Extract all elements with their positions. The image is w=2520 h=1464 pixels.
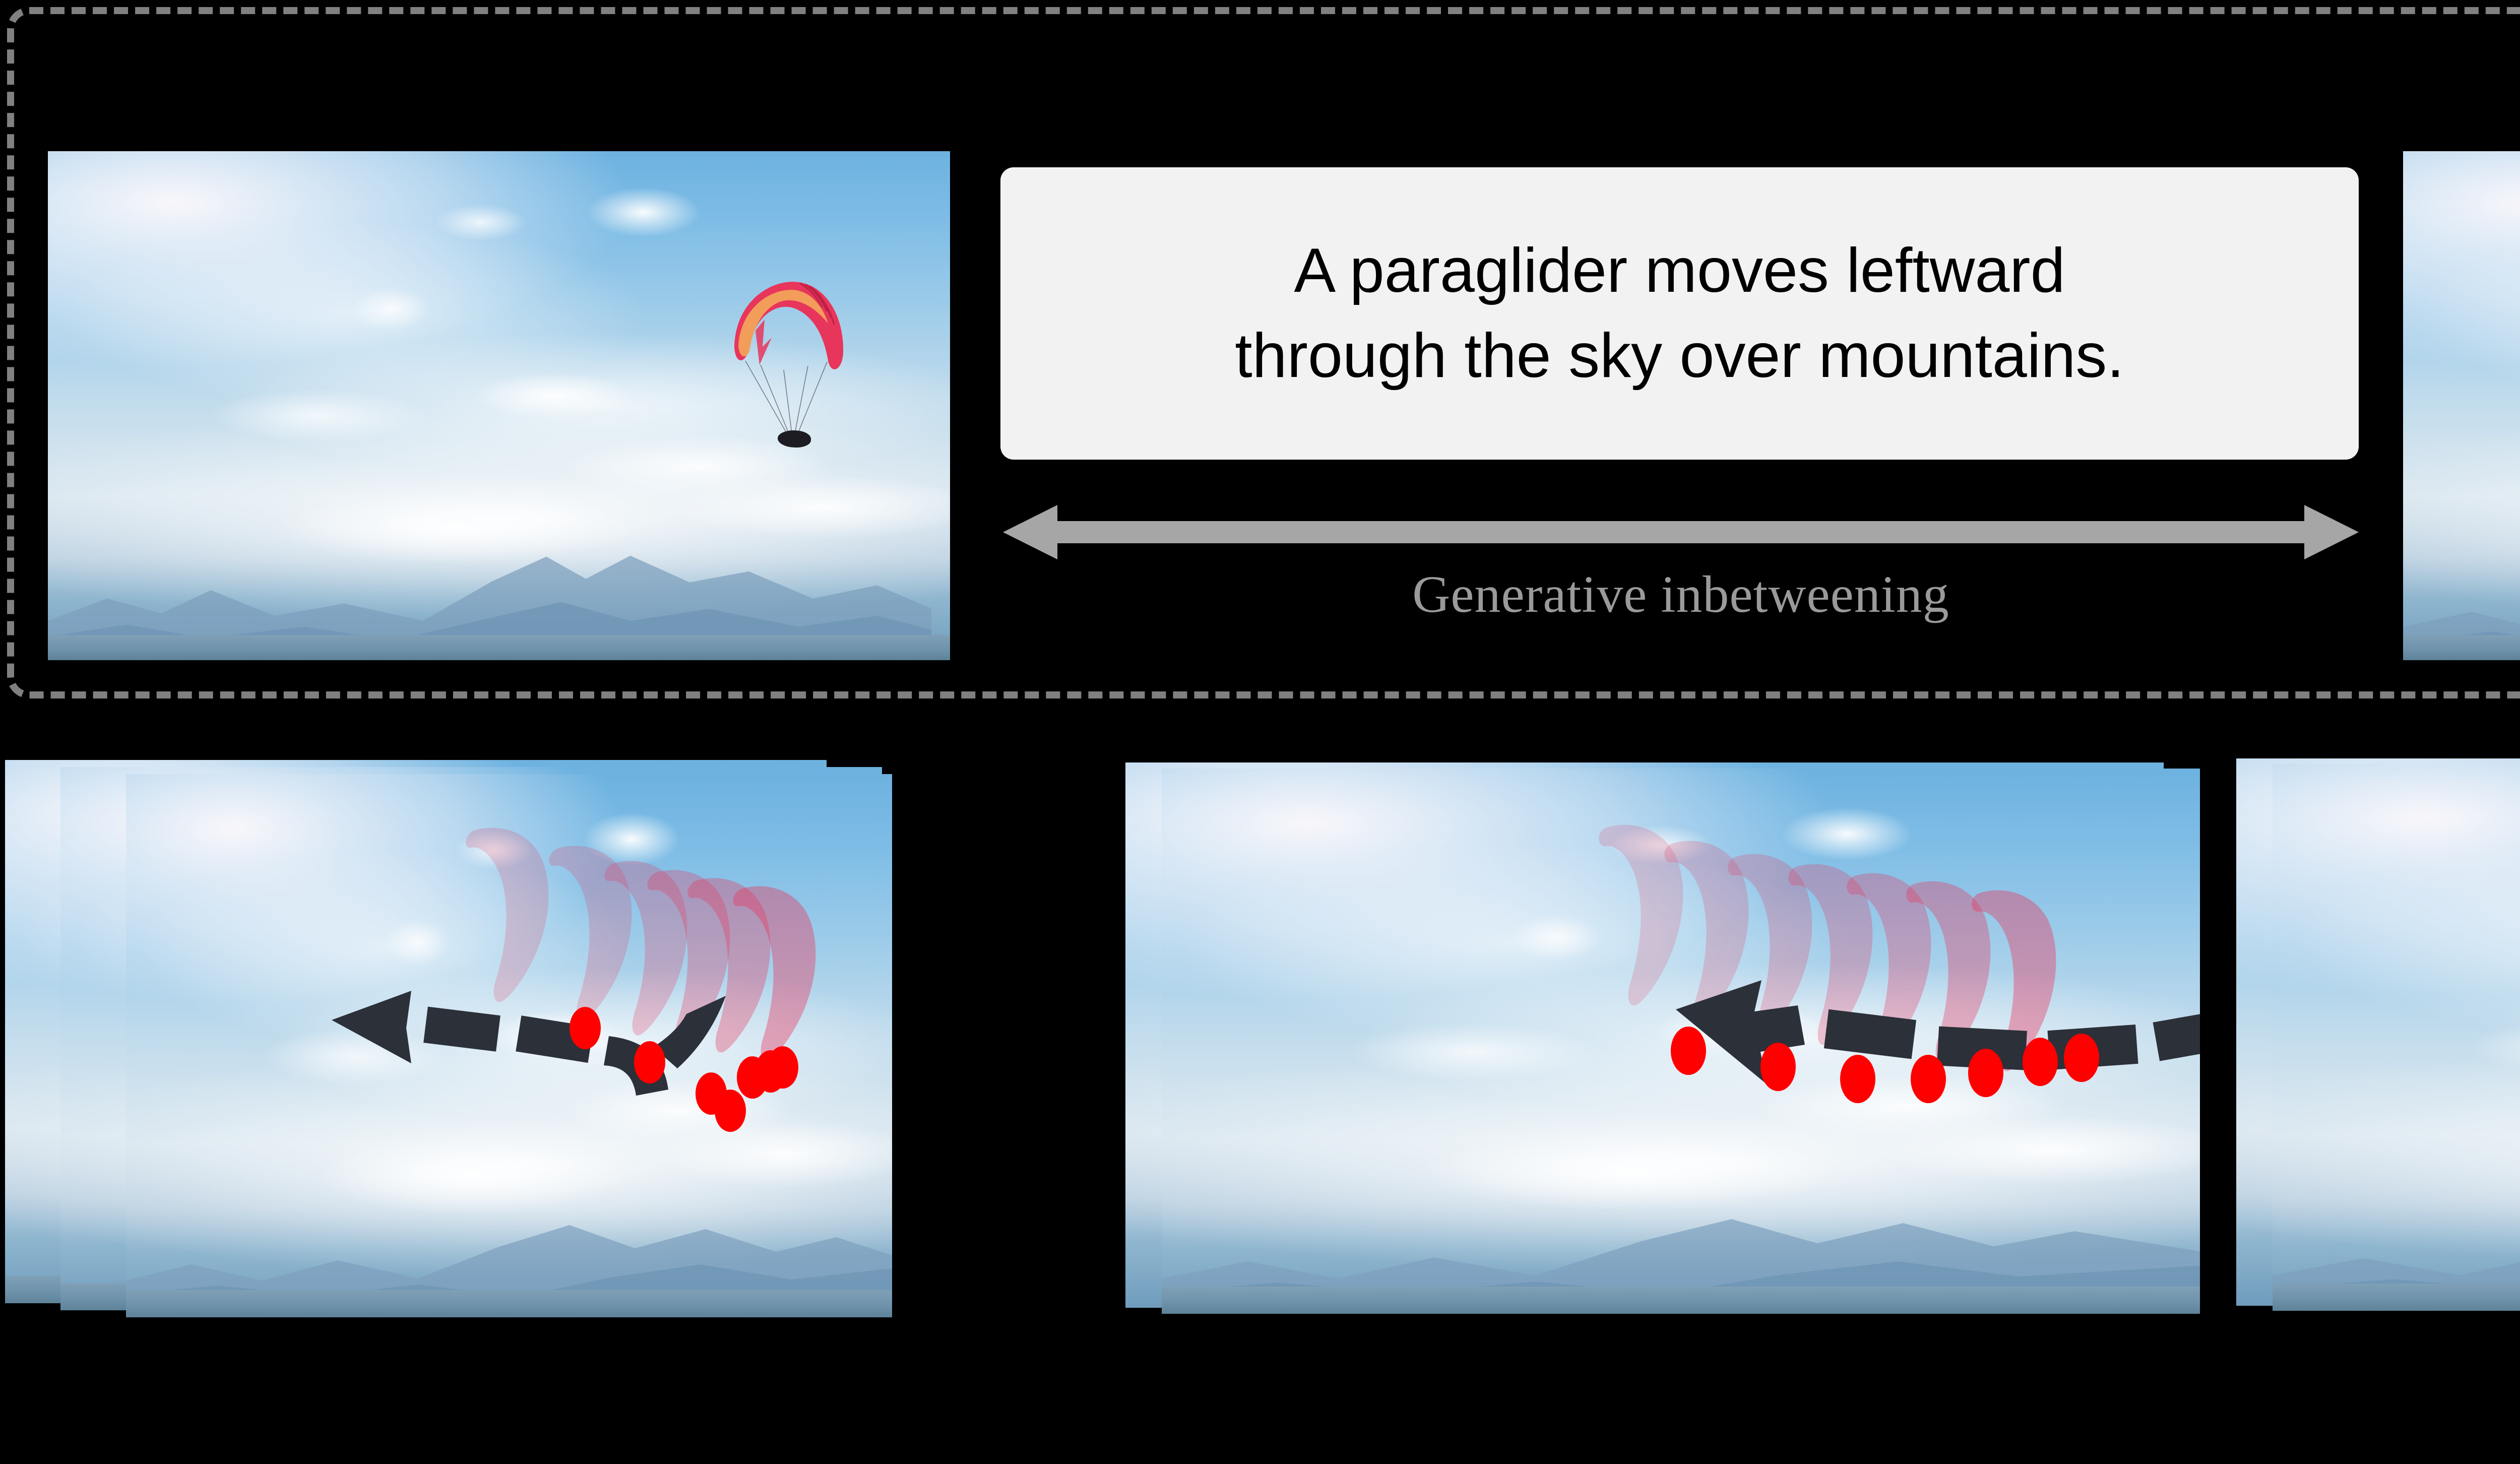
result-panel-3 — [2236, 758, 2520, 1313]
start-keyframe-image — [48, 151, 950, 660]
track-dot — [2064, 1034, 2099, 1082]
arrow-label: Generative inbetweening — [1003, 564, 2359, 624]
sea-strip — [2403, 635, 2520, 661]
track-dot — [570, 1007, 601, 1049]
sea-strip — [48, 635, 950, 661]
text-prompt-bubble: A paraglider moves leftward through the … — [1000, 167, 2359, 460]
track-dot — [1671, 1027, 1706, 1075]
paraglider-ghost-trail — [2273, 763, 2520, 1311]
paraglider-ghost-trail — [126, 774, 892, 1317]
track-dot — [1911, 1055, 1946, 1103]
track-dot — [634, 1041, 665, 1084]
end-keyframe-image — [2403, 151, 2520, 660]
result-panel-2 — [1125, 762, 2200, 1314]
result-frame-1 — [126, 774, 892, 1317]
track-dot — [767, 1046, 798, 1089]
caption-line-1: A paraglider moves leftward — [1294, 236, 2065, 305]
track-dot — [715, 1090, 746, 1132]
track-dot — [2023, 1038, 2058, 1086]
figure-root: A paraglider moves leftward through the … — [0, 0, 2520, 1464]
bidirectional-arrow-icon — [1003, 504, 2359, 560]
track-dot — [1760, 1043, 1796, 1091]
track-dot — [1968, 1049, 2003, 1097]
text-prompt: A paraglider moves leftward through the … — [1235, 228, 2124, 398]
caption-line-2: through the sky over mountains. — [1235, 321, 2124, 391]
track-dot — [1840, 1055, 1875, 1103]
result-panel-1 — [5, 760, 892, 1324]
result-frame-2 — [1162, 769, 2200, 1314]
result-frame-3 — [2273, 763, 2520, 1311]
paraglider-start — [723, 271, 854, 473]
